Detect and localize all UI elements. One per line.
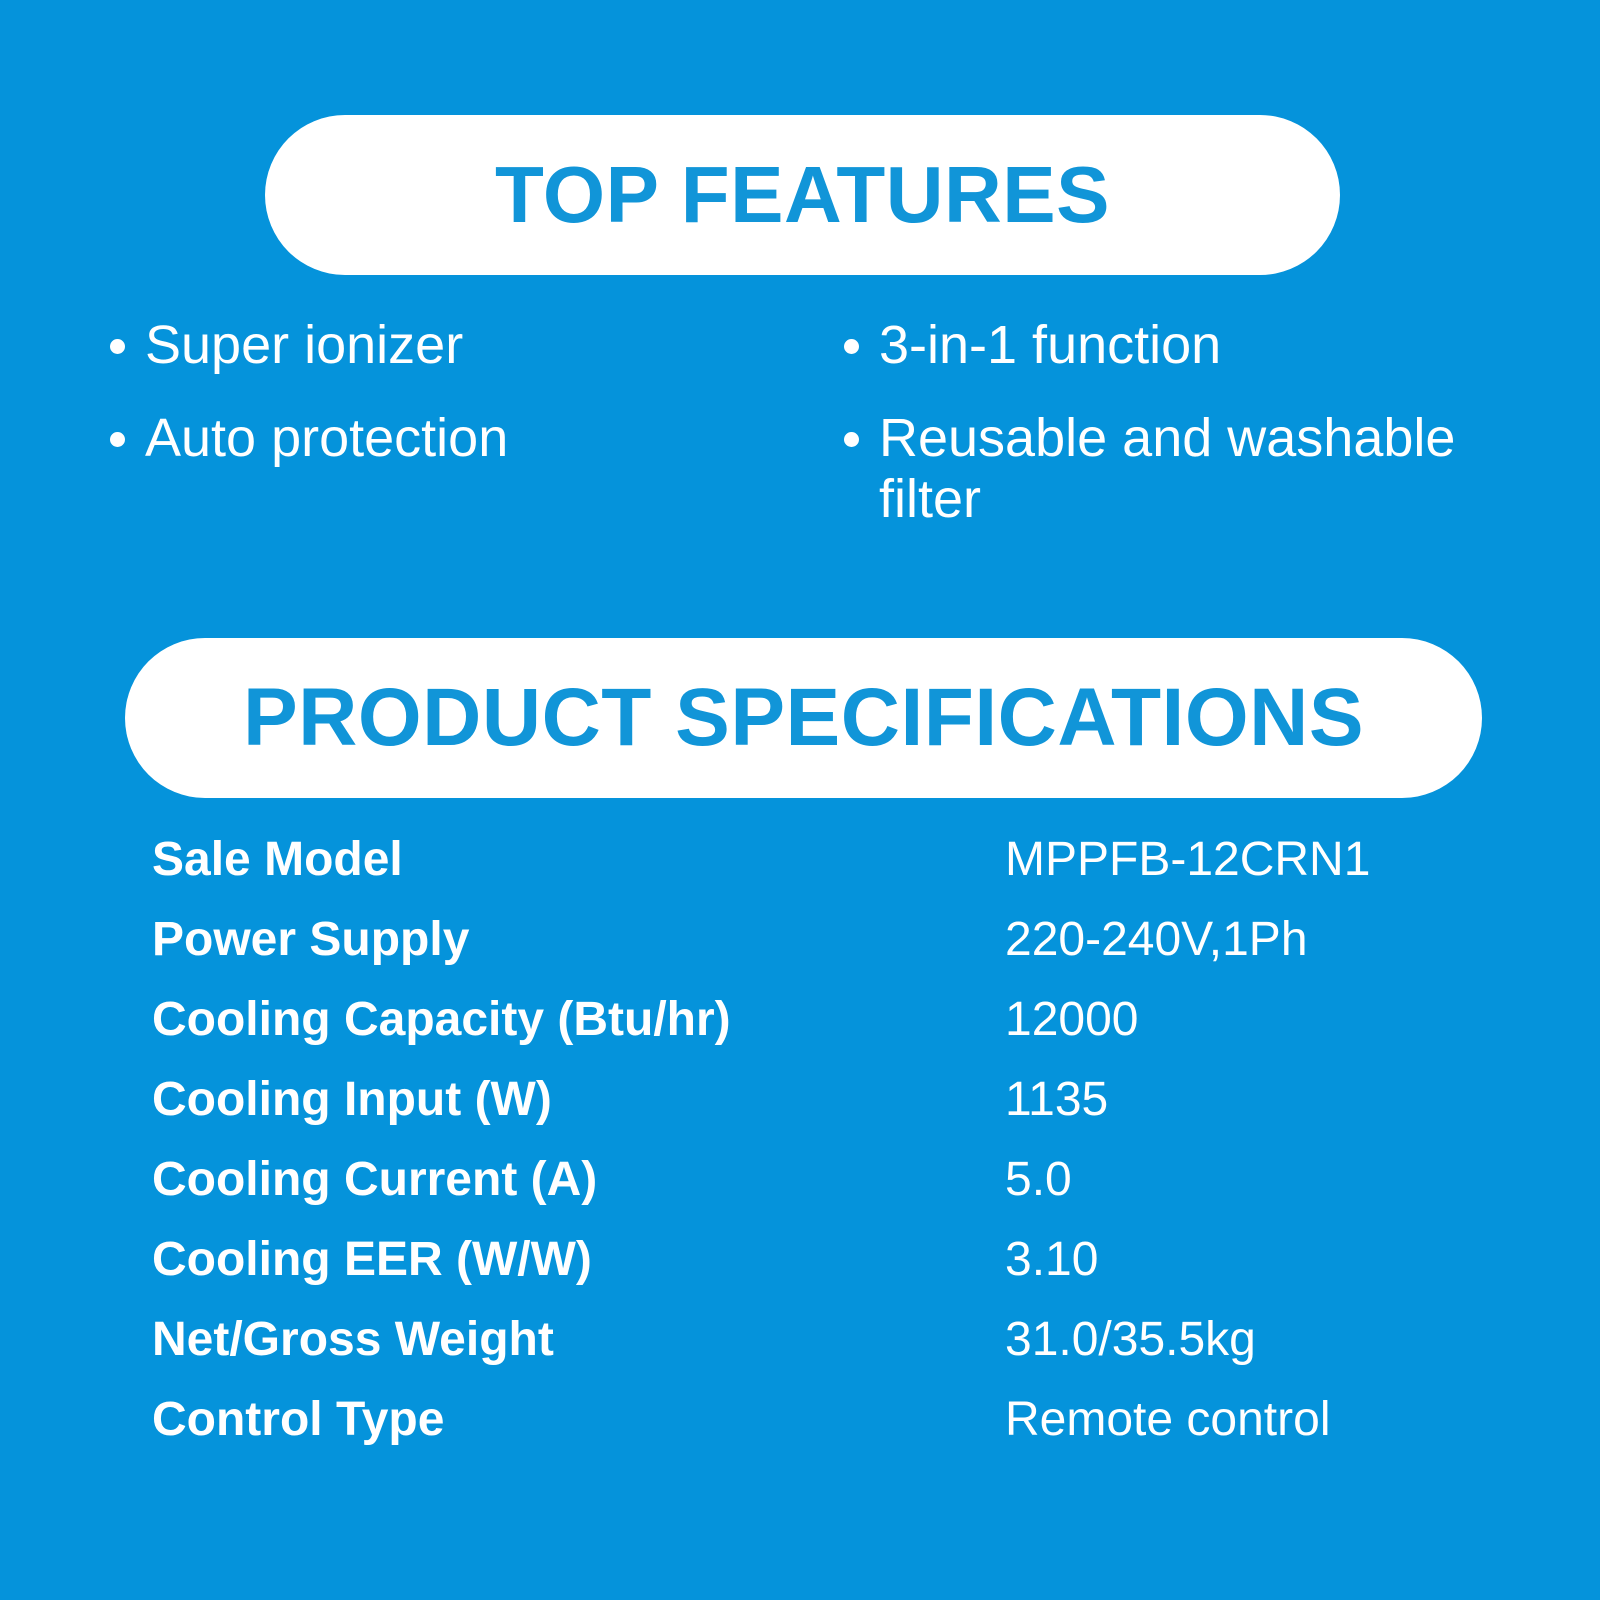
feature-label: Reusable and washable filter [879,408,1484,530]
feature-label: Auto protection [145,408,508,469]
spec-value: 220-240V,1Ph [1005,912,1308,969]
spec-value: Remote control [1005,1392,1330,1449]
spec-label: Cooling EER (W/W) [152,1232,592,1289]
top-features-header-pill: TOP FEATURES [265,115,1340,275]
table-row: Cooling Current (A) 5.0 [152,1152,1532,1232]
table-row: Cooling Capacity (Btu/hr) 12000 [152,992,1532,1072]
bullet-icon [110,339,125,354]
spec-value: 3.10 [1005,1232,1098,1289]
spec-label: Sale Model [152,832,403,889]
spec-value: MPPFB-12CRN1 [1005,832,1370,889]
spec-value: 31.0/35.5kg [1005,1312,1256,1369]
bullet-icon [844,432,859,447]
table-row: Cooling Input (W) 1135 [152,1072,1532,1152]
product-specifications-header-pill: PRODUCT SPECIFICATIONS [125,638,1482,798]
spec-value: 1135 [1005,1072,1108,1129]
table-row: Cooling EER (W/W) 3.10 [152,1232,1532,1312]
feature-item: Auto protection [110,408,770,469]
features-list: Super ionizer Auto protection 3-in-1 fun… [0,315,1600,575]
bullet-icon [110,432,125,447]
spec-value: 12000 [1005,992,1138,1049]
table-row: Control Type Remote control [152,1392,1532,1472]
feature-item: 3-in-1 function [844,315,1484,376]
spec-label: Net/Gross Weight [152,1312,554,1369]
specifications-table: Sale Model MPPFB-12CRN1 Power Supply 220… [152,832,1532,1472]
feature-label: 3-in-1 function [879,315,1221,376]
feature-label: Super ionizer [145,315,463,376]
product-specifications-heading: PRODUCT SPECIFICATIONS [243,677,1364,759]
feature-item: Super ionizer [110,315,770,376]
features-column-right: 3-in-1 function Reusable and washable fi… [844,315,1484,562]
spec-label: Cooling Capacity (Btu/hr) [152,992,731,1049]
top-features-heading: TOP FEATURES [495,155,1110,235]
spec-label: Cooling Current (A) [152,1152,597,1209]
bullet-icon [844,339,859,354]
table-row: Net/Gross Weight 31.0/35.5kg [152,1312,1532,1392]
spec-label: Cooling Input (W) [152,1072,552,1129]
table-row: Power Supply 220-240V,1Ph [152,912,1532,992]
spec-value: 5.0 [1005,1152,1072,1209]
spec-label: Control Type [152,1392,444,1449]
table-row: Sale Model MPPFB-12CRN1 [152,832,1532,912]
spec-label: Power Supply [152,912,469,969]
feature-item: Reusable and washable filter [844,408,1484,530]
features-column-left: Super ionizer Auto protection [110,315,770,501]
